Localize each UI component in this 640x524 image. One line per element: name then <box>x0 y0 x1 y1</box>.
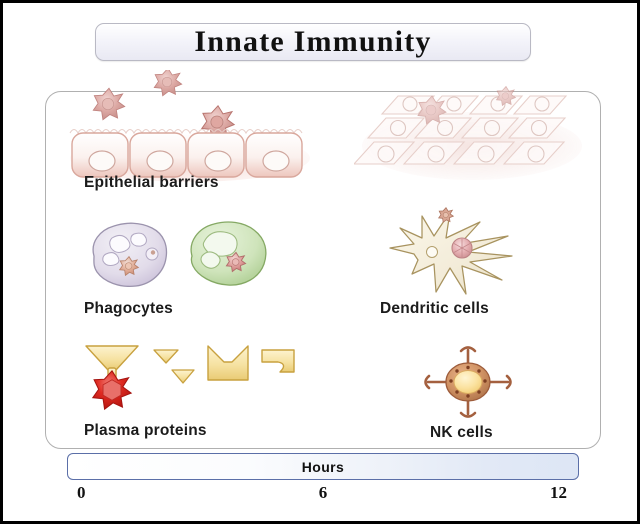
label-dendritic-cells: Dendritic cells <box>380 300 489 318</box>
label-nk-cells: NK cells <box>430 424 493 442</box>
cell-dendritic-cells: Dendritic cells <box>336 204 602 324</box>
microbe-icon <box>439 208 454 223</box>
figure-frame: Innate Immunity <box>0 0 640 524</box>
cell-phagocytes: Phagocytes <box>46 216 326 326</box>
epithelial-cell <box>72 133 128 177</box>
antibody-shapes-icon <box>80 340 300 414</box>
hours-label: Hours <box>302 459 344 475</box>
tick-label-6: 6 <box>319 483 328 503</box>
epithelial-cell-row-icon <box>62 70 322 190</box>
epithelial-cell <box>188 133 244 177</box>
complement-cup <box>208 346 248 380</box>
title-box: Innate Immunity <box>95 23 531 61</box>
label-phagocytes: Phagocytes <box>84 300 173 318</box>
complement-hook <box>262 350 294 372</box>
page-title: Innate Immunity <box>194 25 431 59</box>
cell-nk-cells: NK cells <box>336 342 602 450</box>
nk-cell-icon <box>420 342 516 422</box>
phagocyte-macrophage <box>191 222 266 285</box>
phagocyte-pair-icon <box>82 216 282 296</box>
microbe-icon <box>93 371 131 409</box>
label-plasma-proteins: Plasma proteins <box>84 422 207 440</box>
cell-plasma-proteins: Plasma proteins <box>46 340 326 448</box>
phagocyte-neutrophil <box>93 223 166 286</box>
tick-label-12: 12 <box>550 483 567 503</box>
cell-epithelial-barriers: Epithelial barriers <box>46 70 326 200</box>
complement-fragment <box>154 350 178 363</box>
epithelial-sheet-perspective-icon <box>354 84 594 202</box>
epithelial-cell <box>130 133 186 177</box>
microbe-icon <box>93 88 125 120</box>
dendritic-cell-icon <box>384 204 544 300</box>
complement-fragment <box>172 370 194 383</box>
timeline-ticks: 0 6 12 <box>67 483 579 509</box>
label-epithelial-barriers: Epithelial barriers <box>84 174 219 192</box>
cell-epithelial-sheet <box>336 84 602 204</box>
epithelial-cell <box>246 133 302 177</box>
tick-label-0: 0 <box>77 483 86 503</box>
hours-timeline-bar: Hours <box>67 453 579 480</box>
microbe-icon <box>154 70 182 96</box>
innate-immunity-card: Epithelial barriers <box>45 91 601 449</box>
